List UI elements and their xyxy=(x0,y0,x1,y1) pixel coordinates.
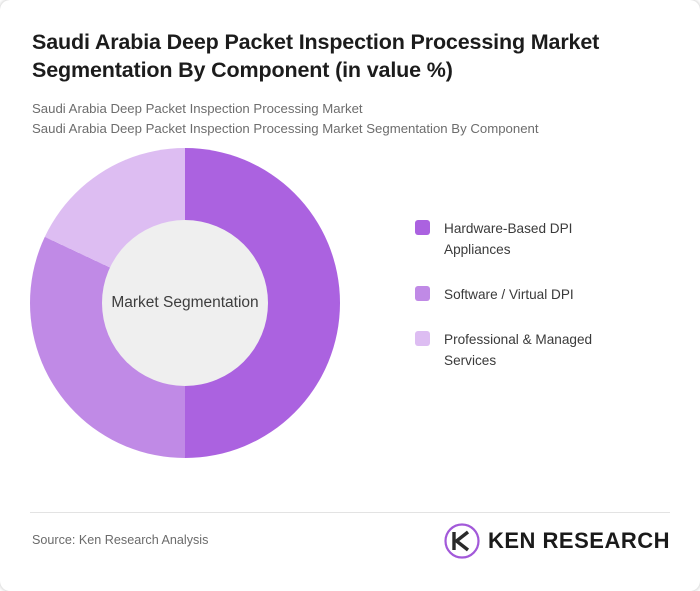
donut-center: Market Segmentation xyxy=(102,220,268,386)
donut-chart: Market Segmentation xyxy=(30,148,340,458)
brand-name: KEN RESEARCH xyxy=(488,528,670,554)
chart-legend: Hardware-Based DPI AppliancesSoftware / … xyxy=(415,218,665,395)
page-title: Saudi Arabia Deep Packet Inspection Proc… xyxy=(32,28,668,85)
ken-logo-icon xyxy=(444,523,480,559)
legend-swatch-icon xyxy=(415,220,430,235)
footer-divider xyxy=(30,512,670,513)
legend-item[interactable]: Hardware-Based DPI Appliances xyxy=(415,218,665,260)
legend-swatch-icon xyxy=(415,286,430,301)
chart-area: Market Segmentation Hardware-Based DPI A… xyxy=(0,140,700,470)
chart-card: Saudi Arabia Deep Packet Inspection Proc… xyxy=(0,0,700,591)
legend-item-label: Software / Virtual DPI xyxy=(444,284,574,305)
legend-item-label: Hardware-Based DPI Appliances xyxy=(444,218,634,260)
donut-center-label: Market Segmentation xyxy=(111,294,258,312)
legend-item-label: Professional & Managed Services xyxy=(444,329,634,371)
subtitle-line-1: Saudi Arabia Deep Packet Inspection Proc… xyxy=(32,99,668,119)
legend-item[interactable]: Professional & Managed Services xyxy=(415,329,665,371)
source-note: Source: Ken Research Analysis xyxy=(32,533,208,547)
legend-item[interactable]: Software / Virtual DPI xyxy=(415,284,665,305)
chart-header: Saudi Arabia Deep Packet Inspection Proc… xyxy=(0,0,700,140)
subtitle-line-2: Saudi Arabia Deep Packet Inspection Proc… xyxy=(32,119,668,139)
legend-swatch-icon xyxy=(415,331,430,346)
brand-logo: KEN RESEARCH xyxy=(444,523,670,559)
chart-footer: Source: Ken Research Analysis KEN RESEAR… xyxy=(32,523,670,559)
chart-subtitle: Saudi Arabia Deep Packet Inspection Proc… xyxy=(32,99,668,140)
